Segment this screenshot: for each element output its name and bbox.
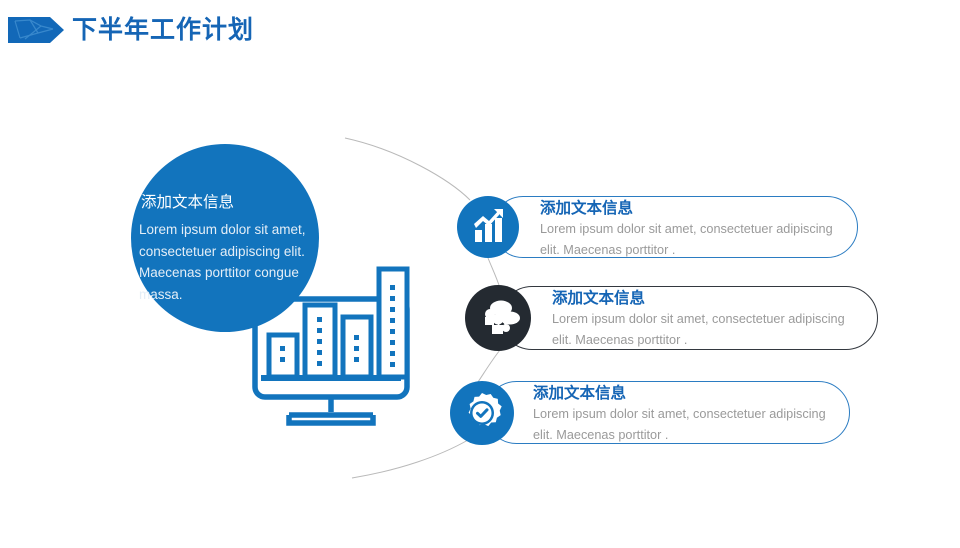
bar-chart-growth-icon[interactable] xyxy=(457,196,519,258)
slide-header: 下半年工作计划 xyxy=(0,0,960,62)
monitor-bar-chart-icon xyxy=(247,247,422,427)
info-panel-3-body: Lorem ipsum dolor sit amet, consectetuer… xyxy=(533,404,833,446)
hero-circle-title: 添加文本信息 xyxy=(141,192,321,214)
page-title: 下半年工作计划 xyxy=(72,13,254,47)
arrow-badge-icon xyxy=(8,15,64,45)
info-panel-2-title: 添加文本信息 xyxy=(552,289,645,309)
info-panel-1-body: Lorem ipsum dolor sit amet, consectetuer… xyxy=(540,219,840,261)
info-panel-2-body: Lorem ipsum dolor sit amet, consectetuer… xyxy=(552,309,852,351)
info-panel-3-title: 添加文本信息 xyxy=(533,384,626,404)
info-panel-1-title: 添加文本信息 xyxy=(540,199,633,219)
gear-check-icon[interactable] xyxy=(450,381,514,445)
network-cluster-icon[interactable] xyxy=(465,285,531,351)
